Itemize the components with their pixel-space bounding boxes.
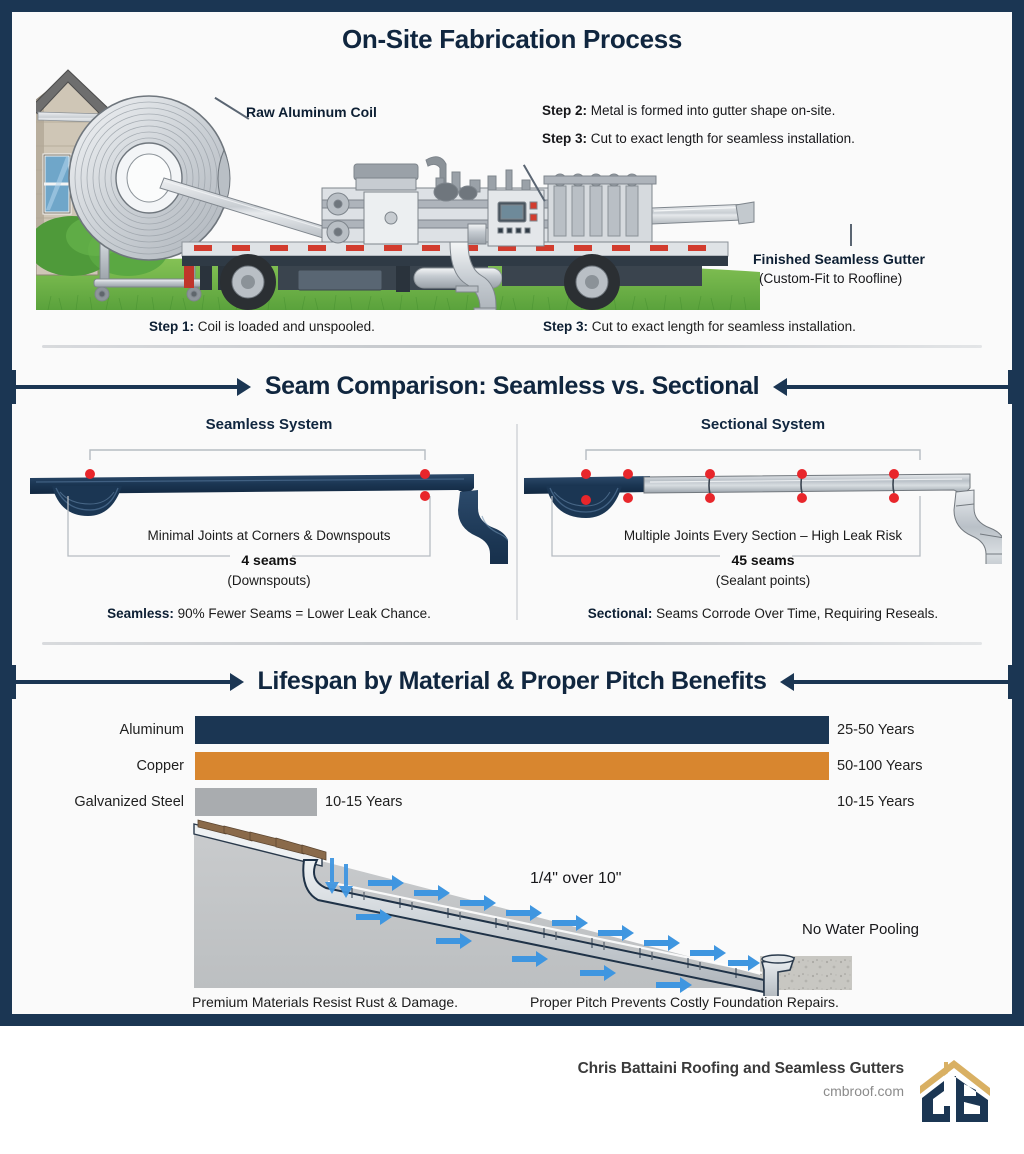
section2-title-row: Seam Comparison: Seamless vs. Sectional xyxy=(12,372,1012,401)
brand-url[interactable]: cmbroof.com xyxy=(578,1083,904,1099)
finished-gutter-graphic xyxy=(652,202,754,224)
lifespan-bar-chart: Aluminum 25-50 Years Copper 50-100 Years xyxy=(12,712,1012,820)
navy-frame: On-Site Fabrication Process xyxy=(0,0,1024,1026)
panel-divider xyxy=(516,424,518,620)
bar-row-copper: Copper 50-100 Years xyxy=(12,748,1012,784)
brand-name: Chris Battaini Roofing and Seamless Gutt… xyxy=(578,1060,904,1078)
sectional-diagram xyxy=(524,434,1002,564)
sectional-heading: Sectional System xyxy=(524,416,1002,433)
bar-value-galvanized-steel-inline: 10-15 Years xyxy=(325,788,402,816)
brand-block: Chris Battaini Roofing and Seamless Gutt… xyxy=(578,1060,904,1099)
pitch-ratio-label: 1/4" over 10" xyxy=(530,870,621,888)
step3-annotation-top: Step 3: Cut to exact length for seamless… xyxy=(542,131,855,146)
right-arrow-section3 xyxy=(780,673,1012,691)
seamless-heading: Seamless System xyxy=(30,416,508,433)
section1-caption-1: Step 1: Coil is loaded and unspooled. xyxy=(149,319,375,334)
caption1-bold: Step 1: xyxy=(149,319,194,334)
sectional-footer-bold: Sectional: xyxy=(588,606,653,621)
seamless-panel: Seamless System xyxy=(30,416,508,628)
bar-row-galvanized-steel: Galvanized Steel 10-15 Years 10-15 Years xyxy=(12,784,1012,820)
bar-track-galvanized-steel xyxy=(195,788,317,816)
coil-label: Raw Aluminum Coil xyxy=(246,104,377,120)
bar-track-copper xyxy=(195,752,829,780)
caption2-text: Cut to exact length for seamless install… xyxy=(592,319,856,334)
bar-value-copper: 50-100 Years xyxy=(837,752,922,780)
sectional-note: Multiple Joints Every Section – High Lea… xyxy=(524,528,1002,543)
bar-value-aluminum: 25-50 Years xyxy=(837,716,914,744)
sectional-footer: Sectional: Seams Corrode Over Time, Requ… xyxy=(524,606,1002,621)
left-arrow-section3 xyxy=(12,673,244,691)
bar-label-aluminum: Aluminum xyxy=(12,712,184,748)
seamless-note: Minimal Joints at Corners & Downspouts xyxy=(30,528,508,543)
left-arrow-section2 xyxy=(12,378,251,396)
section3-title: Lifespan by Material & Proper Pitch Bene… xyxy=(258,667,767,696)
finished-gutter-label: Finished Seamless Gutter xyxy=(753,251,925,267)
bar-row-aluminum: Aluminum 25-50 Years xyxy=(12,712,1012,748)
page-footer: Chris Battaini Roofing and Seamless Gutt… xyxy=(0,1026,1024,1154)
sectional-seam-count-value: 45 seams xyxy=(731,552,794,568)
aluminum-coil-graphic xyxy=(69,96,230,260)
section1-caption-2: Step 3: Cut to exact length for seamless… xyxy=(543,319,856,334)
sectional-footer-text: Seams Corrode Over Time, Requiring Resea… xyxy=(656,606,938,621)
forming-machine-graphic xyxy=(322,157,656,246)
seamless-footer-text: 90% Fewer Seams = Lower Leak Chance. xyxy=(178,606,431,621)
section3-footer-2: Proper Pitch Prevents Costly Foundation … xyxy=(530,994,839,1010)
section3-title-row: Lifespan by Material & Proper Pitch Bene… xyxy=(12,667,1012,696)
finished-gutter-sublabel: (Custom-Fit to Roofline) xyxy=(759,271,902,286)
bar-label-copper: Copper xyxy=(12,748,184,784)
fabrication-illustration xyxy=(36,60,760,310)
cb-house-logo xyxy=(914,1054,996,1126)
bar-track-aluminum xyxy=(195,716,829,744)
right-arrow-section2 xyxy=(773,378,1012,396)
divider-2 xyxy=(42,642,982,645)
bar-label-galvanized-steel: Galvanized Steel xyxy=(12,784,184,820)
bar-fill-aluminum xyxy=(195,716,829,744)
section2-title: Seam Comparison: Seamless vs. Sectional xyxy=(265,372,759,401)
section3-footer-1: Premium Materials Resist Rust & Damage. xyxy=(192,994,458,1010)
step3-text-top: Cut to exact length for seamless install… xyxy=(591,131,855,146)
seamless-seam-sub: (Downspouts) xyxy=(30,573,508,588)
step2-annotation: Step 2: Metal is formed into gutter shap… xyxy=(542,103,835,118)
caption1-text: Coil is loaded and unspooled. xyxy=(198,319,375,334)
bar-fill-galvanized-steel xyxy=(195,788,317,816)
step3-bold-top: Step 3: xyxy=(542,131,587,146)
step2-text: Metal is formed into gutter shape on-sit… xyxy=(591,103,836,118)
seamless-footer-bold: Seamless: xyxy=(107,606,174,621)
no-water-pooling-label: No Water Pooling xyxy=(802,921,919,938)
infographic-page: On-Site Fabrication Process xyxy=(0,0,1024,1154)
seamless-seam-count: 4 seams xyxy=(30,552,508,568)
infographic-canvas: On-Site Fabrication Process xyxy=(12,12,1012,1014)
pitch-illustration xyxy=(12,818,1012,996)
finished-gutter-leader xyxy=(850,224,852,246)
sectional-seam-sub: (Sealant points) xyxy=(524,573,1002,588)
step2-bold: Step 2: xyxy=(542,103,587,118)
seamless-diagram xyxy=(30,434,508,564)
bar-fill-copper xyxy=(195,752,829,780)
bar-value-galvanized-steel: 10-15 Years xyxy=(837,788,914,816)
caption2-bold: Step 3: xyxy=(543,319,588,334)
seamless-seam-count-value: 4 seams xyxy=(241,552,296,568)
sectional-panel: Sectional System xyxy=(524,416,1002,628)
divider-1 xyxy=(42,345,982,348)
seamless-footer: Seamless: 90% Fewer Seams = Lower Leak C… xyxy=(30,606,508,621)
sectional-seam-count: 45 seams xyxy=(524,552,1002,568)
section1-title: On-Site Fabrication Process xyxy=(12,24,1012,55)
